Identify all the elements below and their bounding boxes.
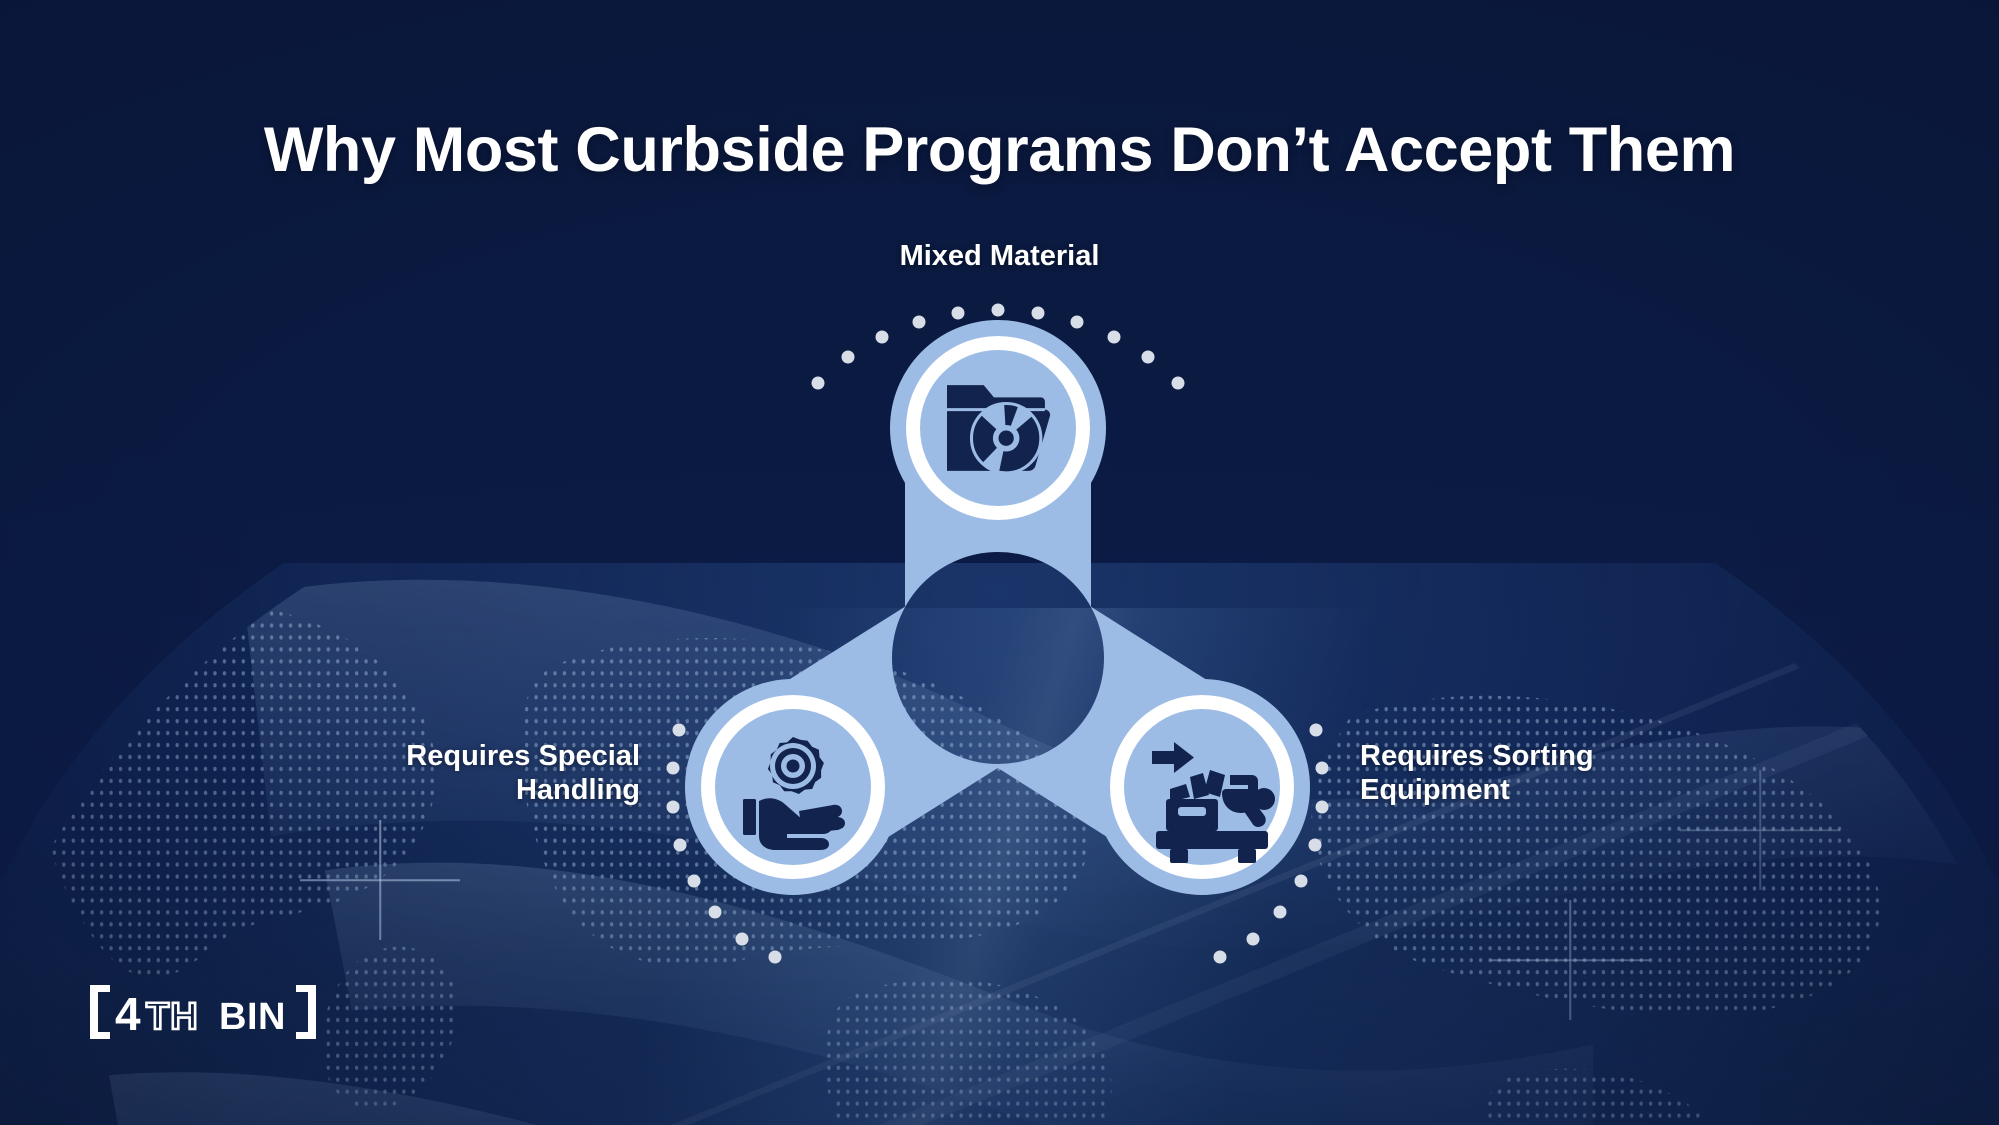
node-label-requires-special-handling: Requires Special Handling	[280, 740, 640, 808]
logo-bracket-right	[296, 985, 316, 1039]
page-title: Why Most Curbside Programs Don’t Accept …	[0, 114, 1999, 186]
logo-bracket-left	[90, 985, 110, 1039]
logo-solid-first: 4	[115, 988, 141, 1040]
brand-logo-4thbin: 4 TH BIN	[88, 983, 318, 1041]
slide-root: Why Most Curbside Programs Don’t Accept …	[0, 0, 1999, 1125]
node-label-mixed-material: Mixed Material	[0, 240, 1999, 274]
logo-solid-last: BIN	[219, 996, 286, 1038]
logo-outline-th: TH	[146, 996, 199, 1038]
node-label-requires-sorting-equipment: Requires Sorting Equipment	[1360, 740, 1760, 808]
